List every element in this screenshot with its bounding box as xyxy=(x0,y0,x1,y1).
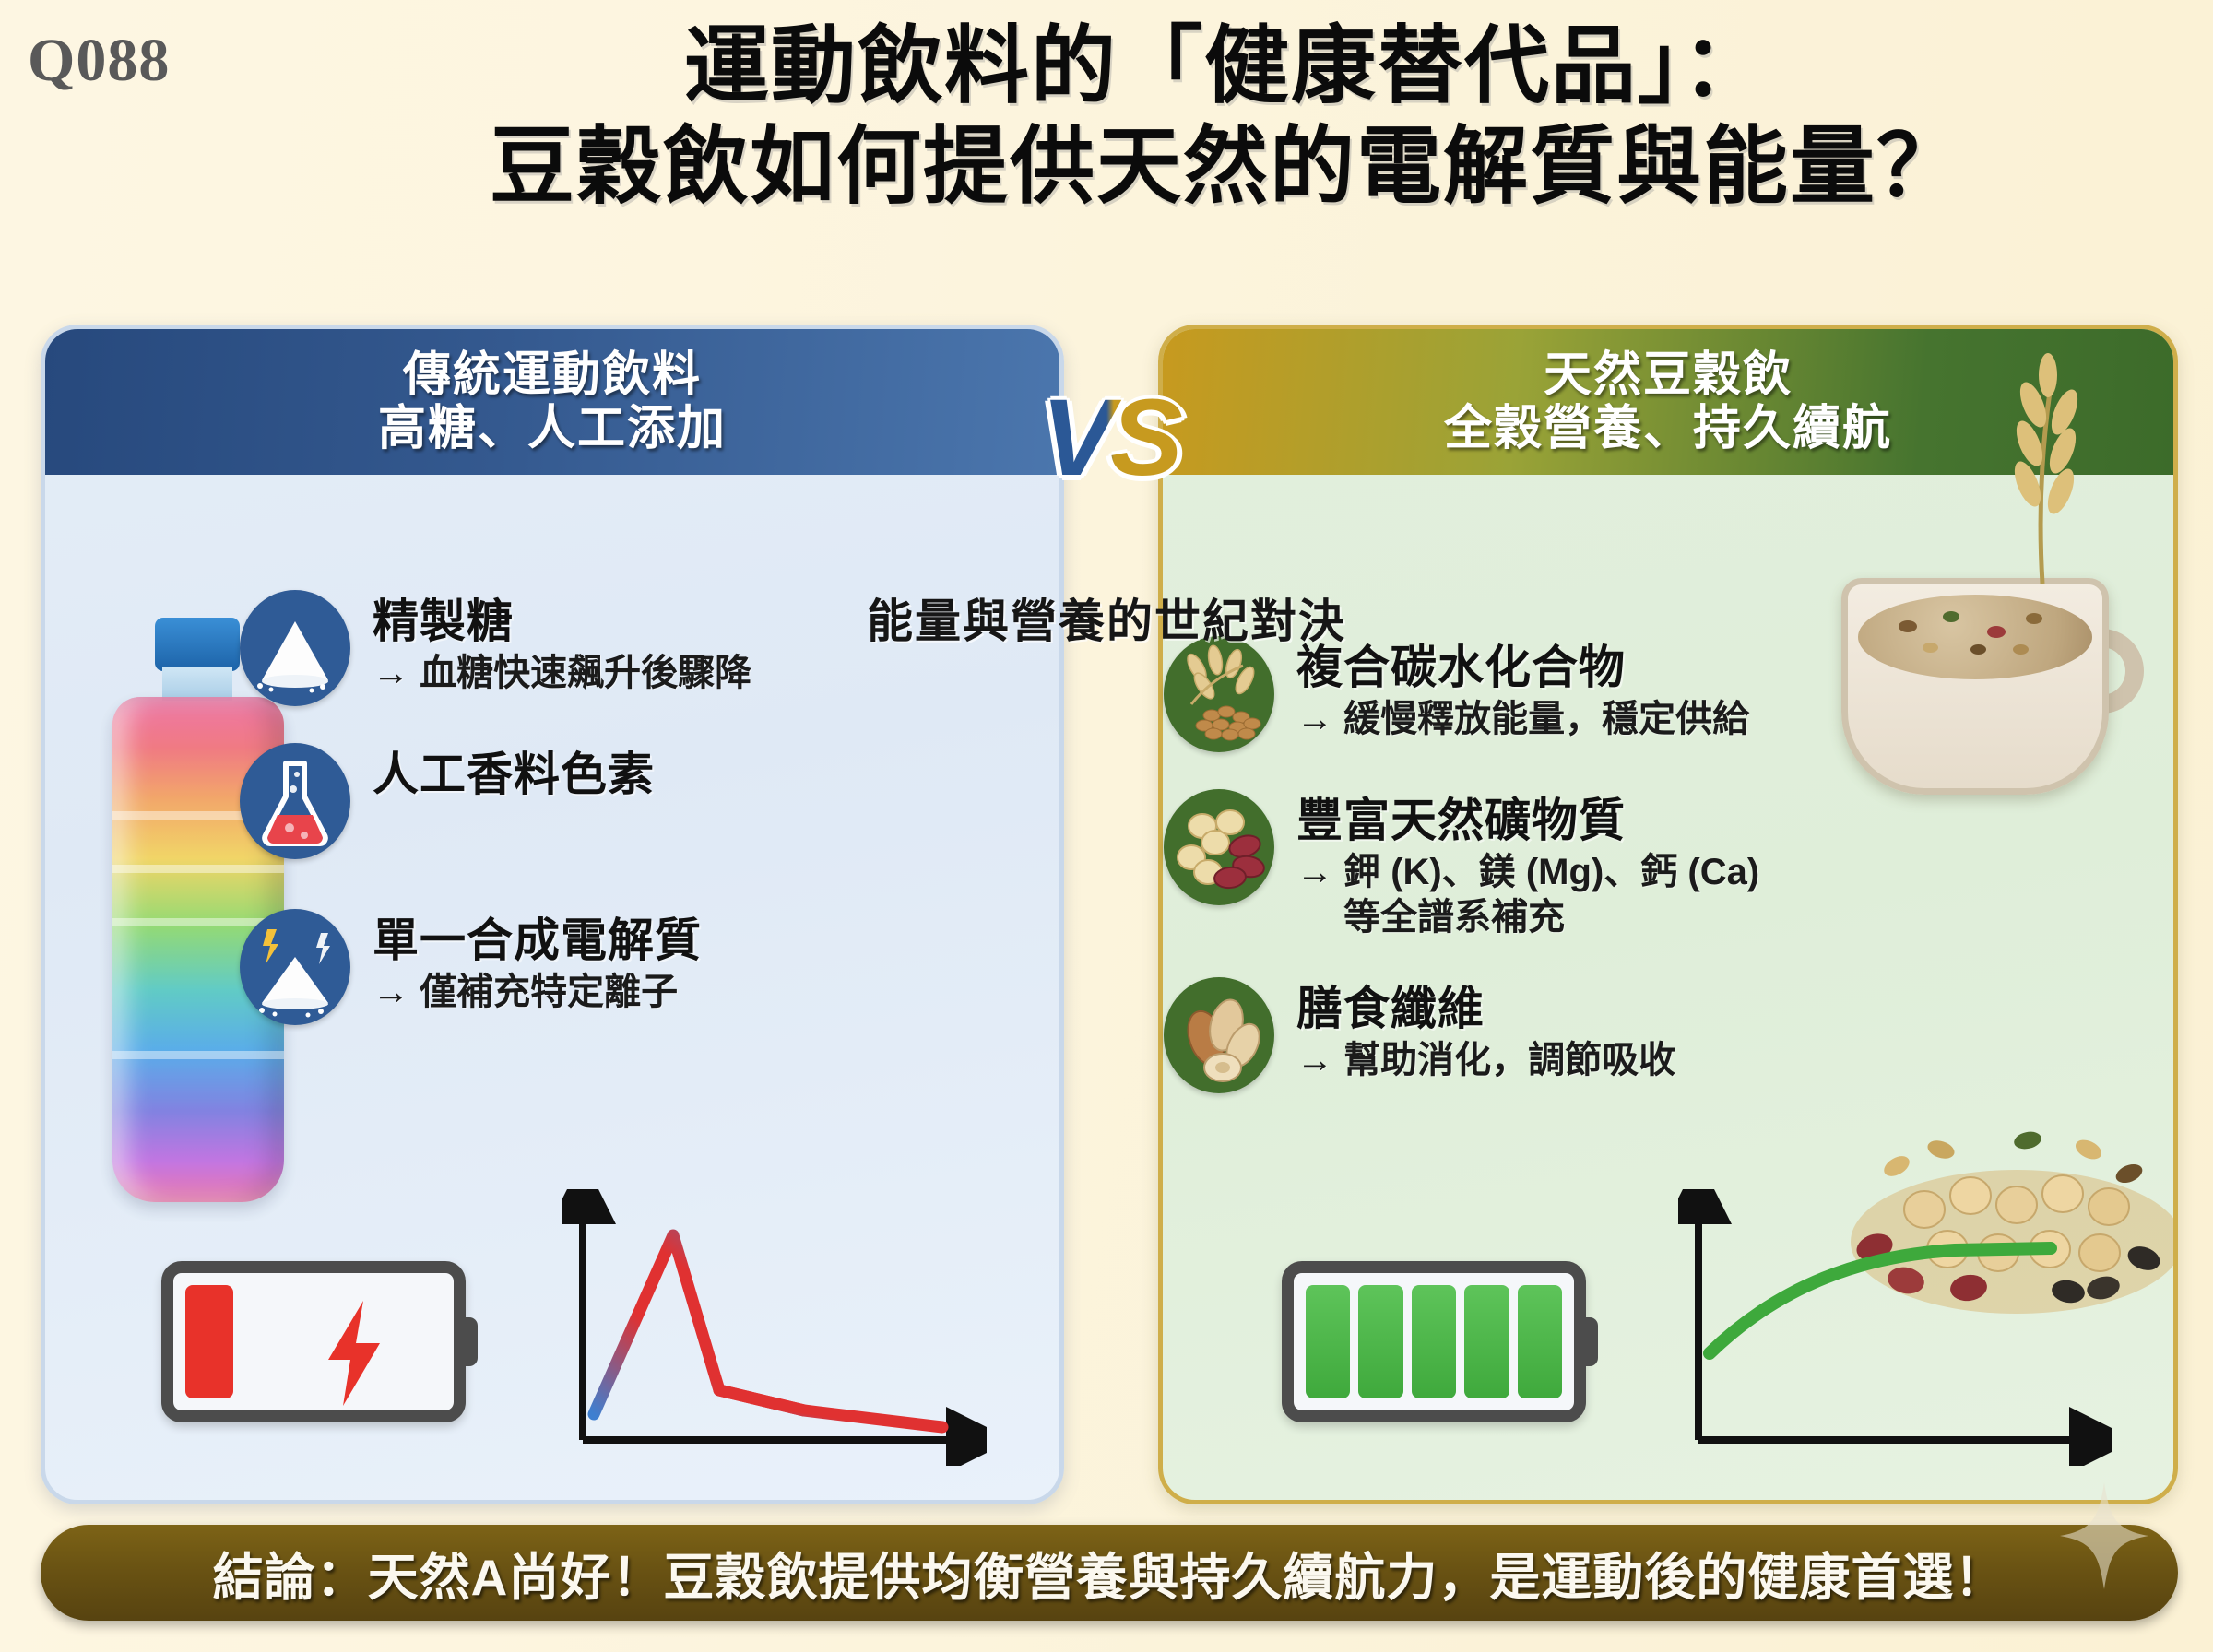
sustained-energy-chart-svg xyxy=(1678,1189,2112,1466)
bullet-detail: → 血糖快速飆升後驟降 xyxy=(373,651,751,696)
electrolyte-salt-icon xyxy=(240,909,350,1025)
battery-cell-filled xyxy=(1412,1285,1456,1398)
list-item: 人工香料色素 xyxy=(240,743,977,859)
battery-cell-filled xyxy=(1306,1285,1350,1398)
battery-tip xyxy=(1576,1317,1598,1367)
left-panel-header-line1: 傳統運動飲料 xyxy=(403,348,702,402)
battery-shell xyxy=(161,1261,466,1422)
lightning-bolt-icon xyxy=(312,1299,396,1422)
bullet-detail: → 鉀 (K)、鎂 (Mg)、鈣 (Ca) 等全譜系補充 xyxy=(1296,850,1759,940)
flask-icon xyxy=(240,743,350,859)
vs-badge: VS xyxy=(1018,378,1202,498)
battery-cell-filled xyxy=(185,1285,233,1398)
low-battery-icon xyxy=(161,1261,466,1422)
full-battery-icon xyxy=(1282,1261,1586,1422)
battery-tip xyxy=(456,1317,478,1367)
sugar-pile-icon xyxy=(240,590,350,706)
sparkle-icon xyxy=(2060,1482,2148,1589)
grain-seed xyxy=(1899,620,1917,632)
battery-cells xyxy=(1306,1285,1562,1398)
bottle-cap xyxy=(155,618,240,671)
bullet-title: 人工香料色素 xyxy=(373,749,655,800)
sustained-energy-chart xyxy=(1678,1189,2112,1466)
right-panel-bullet-list: 複合碳水化合物 → 緩慢釋放能量，穩定供給 豐 xyxy=(1164,636,2086,1130)
bullet-detail: → 緩慢釋放能量，穩定供給 xyxy=(1296,697,1749,742)
bullet-title: 豐富天然礦物質 xyxy=(1296,795,1759,846)
bottle-neck xyxy=(162,667,232,701)
page-title-line2: 豆穀飲如何提供天然的電解質與能量？ xyxy=(277,117,2176,218)
grain-seed xyxy=(2026,613,2042,624)
bullet-title: 膳食纖維 xyxy=(1296,983,1675,1034)
conclusion-text: 結論：天然A尚好！豆穀飲提供均衡營養與持久續航力，是運動後的健康首選！ xyxy=(213,1536,2006,1610)
center-subtitle: 能量與營養的世紀對決 xyxy=(645,584,1568,651)
wheat-stalk-icon xyxy=(1934,348,2118,587)
question-code: Q088 xyxy=(28,26,170,96)
page-title-line1: 運動飲料的「健康替代品」： xyxy=(684,19,1769,113)
battery-cell-filled xyxy=(1358,1285,1402,1398)
energy-spike-chart-svg xyxy=(562,1189,987,1466)
grain-stalk-icon xyxy=(1164,636,1274,752)
left-panel-bullet-list: 精製糖 → 血糖快速飆升後驟降 人工香料色素 xyxy=(240,590,977,1062)
right-panel-header-line1: 天然豆穀飲 xyxy=(1544,348,1793,402)
conclusion-bar: 結論：天然A尚好！豆穀飲提供均衡營養與持久續航力，是運動後的健康首選！ xyxy=(41,1525,2178,1621)
nuts-icon xyxy=(1164,977,1274,1093)
list-item: 複合碳水化合物 → 緩慢釋放能量，穩定供給 xyxy=(1164,636,2086,752)
bullet-title: 單一合成電解質 xyxy=(373,914,702,966)
bullet-detail: → 幫助消化，調節吸收 xyxy=(1296,1038,1675,1083)
left-panel-header: 傳統運動飲料 高糖、人工添加 xyxy=(45,329,1059,475)
grain-seed xyxy=(1943,611,1959,622)
left-panel-header-line2: 高糖、人工添加 xyxy=(378,402,727,455)
page-title: 運動飲料的「健康替代品」： 豆穀飲如何提供天然的電解質與能量？ xyxy=(277,17,2176,217)
battery-cell-filled xyxy=(1464,1285,1509,1398)
page-header: Q088 運動飲料的「健康替代品」： 豆穀飲如何提供天然的電解質與能量？ xyxy=(0,0,2213,304)
list-item: 豐富天然礦物質 → 鉀 (K)、鎂 (Mg)、鈣 (Ca) 等全譜系補充 xyxy=(1164,789,2086,940)
right-panel-header-line2: 全穀營養、持久續航 xyxy=(1444,402,1892,455)
battery-cell-filled xyxy=(1518,1285,1562,1398)
list-item: 單一合成電解質 → 僅補充特定離子 xyxy=(240,909,977,1025)
bullet-detail: → 僅補充特定離子 xyxy=(373,970,702,1015)
beans-icon xyxy=(1164,789,1274,905)
energy-spike-chart xyxy=(562,1189,987,1466)
list-item: 膳食纖維 → 幫助消化，調節吸收 xyxy=(1164,977,2086,1093)
battery-shell xyxy=(1282,1261,1586,1422)
